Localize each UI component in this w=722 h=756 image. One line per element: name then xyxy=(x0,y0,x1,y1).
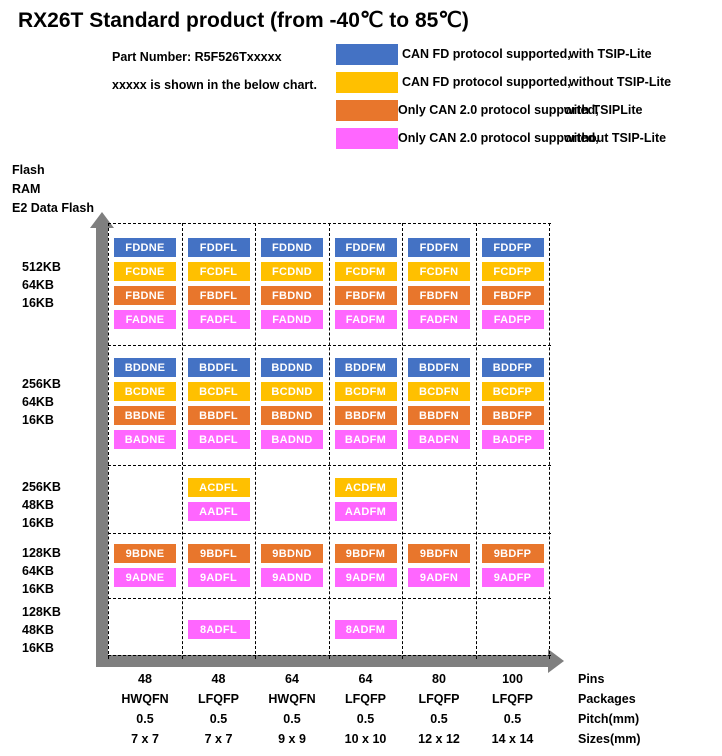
grid-line-vertical xyxy=(182,223,183,659)
product-cell[interactable]: BDDFM xyxy=(335,358,397,377)
product-cell[interactable]: BCDND xyxy=(261,382,323,401)
product-cell[interactable]: FADFL xyxy=(188,310,250,329)
product-cell[interactable]: BCDNE xyxy=(114,382,176,401)
product-cell[interactable]: BDDNE xyxy=(114,358,176,377)
x-axis-pitch: 0.5 xyxy=(477,709,549,729)
x-axis-pitch: 0.5 xyxy=(109,709,181,729)
grid-line-vertical xyxy=(476,223,477,659)
x-axis-package: HWQFN xyxy=(109,689,181,709)
ram-size: 48KB xyxy=(22,496,61,514)
product-cell[interactable]: BCDFM xyxy=(335,382,397,401)
product-cell[interactable]: 9BDNE xyxy=(114,544,176,563)
product-cell[interactable]: FDDFN xyxy=(408,238,470,257)
product-cell[interactable]: FADNE xyxy=(114,310,176,329)
product-cell[interactable]: FBDND xyxy=(261,286,323,305)
x-axis-arrow-head xyxy=(548,649,564,673)
product-cell[interactable]: FBDFP xyxy=(482,286,544,305)
product-cell[interactable]: BADFM xyxy=(335,430,397,449)
product-cell[interactable]: 8ADFM xyxy=(335,620,397,639)
product-cell[interactable]: BBDFM xyxy=(335,406,397,425)
product-cell[interactable]: 9BDND xyxy=(261,544,323,563)
product-cell[interactable]: BCDFN xyxy=(408,382,470,401)
product-cell[interactable]: FBDFM xyxy=(335,286,397,305)
product-cell[interactable]: FADFP xyxy=(482,310,544,329)
product-cell[interactable]: BADFP xyxy=(482,430,544,449)
x-axis-column: 80LFQFP0.512 x 12 xyxy=(403,669,475,749)
ram-size: 64KB xyxy=(22,393,61,411)
x-axis-size: 10 x 10 xyxy=(330,729,402,749)
x-axis-package: LFQFP xyxy=(330,689,402,709)
flash-size: 512KB xyxy=(22,258,61,276)
x-axis-pins: 48 xyxy=(183,669,255,689)
x-axis-pitch: 0.5 xyxy=(403,709,475,729)
product-cell[interactable]: FDDND xyxy=(261,238,323,257)
row-group-label: 128KB64KB16KB xyxy=(22,544,61,598)
product-cell[interactable]: BADFN xyxy=(408,430,470,449)
x-axis-size: 14 x 14 xyxy=(477,729,549,749)
x-axis-size: 7 x 7 xyxy=(109,729,181,749)
x-axis-pins: 80 xyxy=(403,669,475,689)
product-cell[interactable]: FCDNE xyxy=(114,262,176,281)
product-cell[interactable]: BDDFP xyxy=(482,358,544,377)
x-axis-pitch: 0.5 xyxy=(256,709,328,729)
product-cell[interactable]: BDDND xyxy=(261,358,323,377)
x-axis-package: LFQFP xyxy=(403,689,475,709)
product-cell[interactable]: FBDFL xyxy=(188,286,250,305)
e2-data-flash-size: 16KB xyxy=(22,294,61,312)
product-cell[interactable]: BBDFP xyxy=(482,406,544,425)
product-cell[interactable]: 9BDFL xyxy=(188,544,250,563)
flash-size: 256KB xyxy=(22,478,61,496)
product-cell[interactable]: 9BDFP xyxy=(482,544,544,563)
product-cell[interactable]: FDDFL xyxy=(188,238,250,257)
grid-line-vertical xyxy=(329,223,330,659)
row-group-label: 256KB64KB16KB xyxy=(22,375,61,429)
e2-data-flash-size: 16KB xyxy=(22,639,61,657)
product-cell[interactable]: 9ADND xyxy=(261,568,323,587)
product-cell[interactable]: FDDNE xyxy=(114,238,176,257)
flash-size: 128KB xyxy=(22,544,61,562)
grid-line-horizontal xyxy=(108,223,551,224)
product-cell[interactable]: BADFL xyxy=(188,430,250,449)
product-cell[interactable]: BBDFL xyxy=(188,406,250,425)
product-cell[interactable]: BCDFP xyxy=(482,382,544,401)
x-axis-size: 9 x 9 xyxy=(256,729,328,749)
x-axis-row-name: Sizes(mm) xyxy=(578,729,641,749)
x-axis-row-name: Packages xyxy=(578,689,641,709)
product-cell[interactable]: AADFM xyxy=(335,502,397,521)
x-axis-size: 7 x 7 xyxy=(183,729,255,749)
product-cell[interactable]: FCDFM xyxy=(335,262,397,281)
x-axis-column: 64LFQFP0.510 x 10 xyxy=(330,669,402,749)
product-cell[interactable]: 9BDFM xyxy=(335,544,397,563)
x-axis-column: 64HWQFN0.59 x 9 xyxy=(256,669,328,749)
e2-data-flash-size: 16KB xyxy=(22,514,61,532)
x-axis-pitch: 0.5 xyxy=(183,709,255,729)
e2-data-flash-size: 16KB xyxy=(22,411,61,429)
product-cell[interactable]: FDDFP xyxy=(482,238,544,257)
product-cell[interactable]: 8ADFL xyxy=(188,620,250,639)
x-axis-column: 100LFQFP0.514 x 14 xyxy=(477,669,549,749)
grid-line-vertical xyxy=(255,223,256,659)
product-cell[interactable]: ACDFL xyxy=(188,478,250,497)
product-cell[interactable]: BBDNE xyxy=(114,406,176,425)
product-cell[interactable]: BADNE xyxy=(114,430,176,449)
product-cell[interactable]: AADFL xyxy=(188,502,250,521)
product-cell[interactable]: 9BDFN xyxy=(408,544,470,563)
y-axis-arrow xyxy=(96,226,108,661)
grid-line-vertical xyxy=(108,223,109,659)
product-cell[interactable]: FADFM xyxy=(335,310,397,329)
product-cell[interactable]: FCDFL xyxy=(188,262,250,281)
flash-size: 256KB xyxy=(22,375,61,393)
product-cell[interactable]: FBDFN xyxy=(408,286,470,305)
ram-size: 48KB xyxy=(22,621,61,639)
grid-line-horizontal xyxy=(108,465,551,466)
x-axis-package: LFQFP xyxy=(183,689,255,709)
x-axis-pins: 64 xyxy=(330,669,402,689)
product-cell[interactable]: FCDFN xyxy=(408,262,470,281)
product-cell[interactable]: BDDFN xyxy=(408,358,470,377)
product-cell[interactable]: FBDNE xyxy=(114,286,176,305)
product-cell[interactable]: 9ADFM xyxy=(335,568,397,587)
product-cell[interactable]: FDDFM xyxy=(335,238,397,257)
product-cell[interactable]: 9ADNE xyxy=(114,568,176,587)
product-cell[interactable]: BDDFL xyxy=(188,358,250,377)
product-cell[interactable]: FCDFP xyxy=(482,262,544,281)
product-cell[interactable]: BBDND xyxy=(261,406,323,425)
product-cell[interactable]: BBDFN xyxy=(408,406,470,425)
product-cell[interactable]: ACDFM xyxy=(335,478,397,497)
x-axis-row-name: Pitch(mm) xyxy=(578,709,641,729)
x-axis-size: 12 x 12 xyxy=(403,729,475,749)
x-axis-column: 48LFQFP0.57 x 7 xyxy=(183,669,255,749)
grid-line-vertical xyxy=(402,223,403,659)
product-cell[interactable]: BADND xyxy=(261,430,323,449)
grid-line-horizontal xyxy=(108,655,551,656)
grid-line-horizontal xyxy=(108,345,551,346)
flash-size: 128KB xyxy=(22,603,61,621)
product-cell[interactable]: FADFN xyxy=(408,310,470,329)
ram-size: 64KB xyxy=(22,562,61,580)
product-cell[interactable]: FCDND xyxy=(261,262,323,281)
row-group-label: 256KB48KB16KB xyxy=(22,478,61,532)
chart-plot-area: 512KB64KB16KBFDDNEFDDFLFDDNDFDDFMFDDFNFD… xyxy=(0,0,722,756)
product-cell[interactable]: 9ADFL xyxy=(188,568,250,587)
product-cell[interactable]: FADND xyxy=(261,310,323,329)
row-group-label: 512KB64KB16KB xyxy=(22,258,61,312)
grid-line-horizontal xyxy=(108,598,551,599)
x-axis-pitch: 0.5 xyxy=(330,709,402,729)
x-axis-package: HWQFN xyxy=(256,689,328,709)
x-axis-package: LFQFP xyxy=(477,689,549,709)
x-axis-arrow xyxy=(96,655,551,667)
x-axis-pins: 100 xyxy=(477,669,549,689)
x-axis-column: 48HWQFN0.57 x 7 xyxy=(109,669,181,749)
x-axis-row-names: PinsPackagesPitch(mm)Sizes(mm) xyxy=(578,669,641,749)
grid-line-horizontal xyxy=(108,533,551,534)
x-axis-pins: 48 xyxy=(109,669,181,689)
product-cell[interactable]: 9ADFN xyxy=(408,568,470,587)
product-cell[interactable]: 9ADFP xyxy=(482,568,544,587)
ram-size: 64KB xyxy=(22,276,61,294)
product-cell[interactable]: BCDFL xyxy=(188,382,250,401)
x-axis-pins: 64 xyxy=(256,669,328,689)
row-group-label: 128KB48KB16KB xyxy=(22,603,61,657)
x-axis-row-name: Pins xyxy=(578,669,641,689)
grid-line-vertical xyxy=(549,223,550,659)
e2-data-flash-size: 16KB xyxy=(22,580,61,598)
